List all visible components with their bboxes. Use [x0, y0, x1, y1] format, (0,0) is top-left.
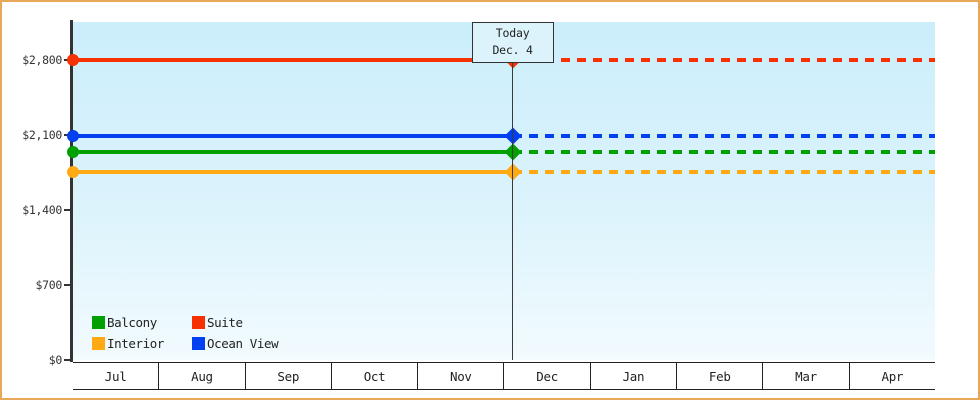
legend-swatch-icon — [92, 316, 105, 329]
x-axis-month-label: Jul — [105, 369, 127, 384]
series-line-solid — [73, 58, 513, 62]
y-axis-tick-label: $2,100 — [6, 128, 62, 142]
legend-label: Interior — [107, 336, 164, 351]
y-axis-line — [70, 20, 73, 362]
y-axis-tick-label: $0 — [6, 353, 62, 367]
series-line-solid — [73, 170, 513, 174]
legend-label: Ocean View — [207, 336, 278, 351]
series-line-dashed — [513, 134, 935, 138]
legend-label: Suite — [207, 315, 243, 330]
series-line-dashed — [513, 150, 935, 154]
today-callout-box: Today Dec. 4 — [472, 22, 554, 63]
x-axis-month-cell[interactable]: Oct — [332, 363, 418, 389]
x-axis-month-cell[interactable]: Apr — [850, 363, 935, 389]
today-vertical-line — [512, 62, 514, 360]
legend-swatch-icon — [192, 337, 205, 350]
x-axis-month-label: Apr — [881, 369, 903, 384]
x-axis-month-cell[interactable]: Nov — [418, 363, 504, 389]
x-axis-month-strip: JulAugSepOctNovDecJanFebMarApr — [73, 362, 935, 390]
chart-frame: $0$700$1,400$2,100$2,800 Today Dec. 4 Ba… — [0, 0, 980, 400]
legend-label: Balcony — [107, 315, 157, 330]
y-axis-tick — [64, 209, 73, 211]
x-axis-month-cell[interactable]: Feb — [677, 363, 763, 389]
x-axis-month-label: Feb — [709, 369, 731, 384]
today-label: Today — [481, 25, 545, 42]
chart-legend: BalconySuiteInteriorOcean View — [92, 312, 278, 354]
y-axis-tick-label: $700 — [6, 278, 62, 292]
today-date: Dec. 4 — [481, 42, 545, 59]
series-line-dashed — [513, 170, 935, 174]
legend-entry[interactable]: Balcony — [92, 312, 192, 333]
legend-entry[interactable]: Suite — [192, 312, 278, 333]
series-start-marker — [67, 54, 79, 66]
series-line-dashed — [513, 58, 935, 62]
legend-entry[interactable]: Interior — [92, 333, 192, 354]
legend-swatch-icon — [92, 337, 105, 350]
series-line-solid — [73, 150, 513, 154]
x-axis-month-label: Dec — [536, 369, 558, 384]
x-axis-month-cell[interactable]: Mar — [763, 363, 849, 389]
series-line-solid — [73, 134, 513, 138]
series-start-marker — [67, 130, 79, 142]
x-axis-month-cell[interactable]: Dec — [504, 363, 590, 389]
x-axis-month-label: Aug — [191, 369, 213, 384]
x-axis-month-label: Mar — [795, 369, 817, 384]
x-axis-month-cell[interactable]: Sep — [246, 363, 332, 389]
x-axis-month-cell[interactable]: Aug — [159, 363, 245, 389]
y-axis-tick-label: $1,400 — [6, 203, 62, 217]
x-axis-month-label: Oct — [364, 369, 386, 384]
x-axis-month-cell[interactable]: Jan — [591, 363, 677, 389]
y-axis-tick — [64, 284, 73, 286]
x-axis-month-cell[interactable]: Jul — [73, 363, 159, 389]
series-start-marker — [67, 146, 79, 158]
plot-area — [73, 22, 935, 360]
y-axis-tick — [64, 359, 73, 361]
x-axis-month-label: Sep — [277, 369, 299, 384]
y-axis-tick-label: $2,800 — [6, 53, 62, 67]
x-axis-month-label: Jan — [623, 369, 645, 384]
x-axis-month-label: Nov — [450, 369, 472, 384]
legend-swatch-icon — [192, 316, 205, 329]
legend-entry[interactable]: Ocean View — [192, 333, 278, 354]
